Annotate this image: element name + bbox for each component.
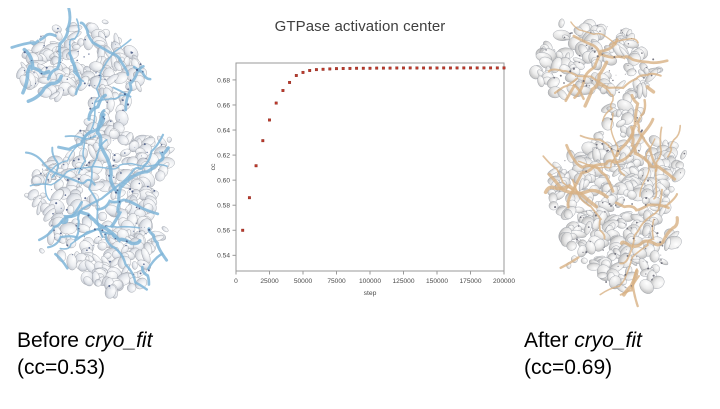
atom-dot [144, 227, 145, 228]
atom-dot [40, 198, 41, 199]
chart-data-point [382, 67, 385, 70]
atom-dot [637, 117, 638, 118]
chart-data-point [255, 164, 258, 167]
atom-dot [113, 140, 114, 141]
cc-vs-step-chart: GTPase activation center 025000500007500… [205, 8, 515, 308]
density-blob [597, 272, 607, 279]
atom-dot [618, 266, 619, 267]
atom-dot [91, 97, 93, 99]
atom-dot [35, 83, 36, 84]
atom-dot [617, 235, 618, 236]
atom-dot [652, 58, 654, 60]
atom-dot [668, 143, 669, 144]
atom-dot [153, 190, 155, 192]
atom-dot [41, 73, 43, 75]
atom-dot [125, 245, 127, 247]
caption-before: Before cryo_fit (cc=0.53) [17, 327, 152, 382]
atom-dot [24, 51, 26, 53]
density-blob [38, 247, 45, 254]
chart-data-point [282, 89, 285, 92]
atom-dot [143, 263, 145, 265]
atom-dot [654, 219, 655, 220]
atom-dot [161, 144, 163, 146]
atom-dot [560, 75, 562, 77]
atom-dot [63, 90, 64, 91]
atom-dot [136, 69, 138, 71]
atom-dot [60, 232, 62, 234]
atom-dot [601, 143, 603, 145]
atom-dot [616, 75, 617, 76]
atom-dot [594, 212, 595, 213]
atom-dot [55, 202, 57, 204]
atom-dot [61, 208, 62, 209]
density-blob [167, 137, 172, 143]
atom-dot [644, 183, 645, 184]
atom-dot [626, 228, 628, 230]
atom-dot [43, 47, 44, 48]
atom-dot [87, 214, 89, 216]
atom-dot [103, 116, 104, 117]
atom-dot [599, 31, 600, 32]
atom-dot [162, 151, 164, 153]
atom-dot [573, 68, 575, 70]
atom-dot [627, 65, 628, 66]
atom-dot [98, 75, 100, 77]
chart-x-tick-label: 25000 [260, 278, 279, 285]
atom-dot [147, 186, 149, 188]
atom-dot [48, 179, 49, 180]
atom-dot [585, 170, 587, 172]
chart-data-point [302, 71, 305, 74]
atom-dot [148, 229, 150, 231]
atom-dot [51, 225, 52, 226]
density-blob [558, 18, 565, 28]
atom-dot [661, 262, 663, 264]
caption-before-cc: (cc=0.53) [17, 354, 152, 381]
atom-dot [142, 71, 143, 72]
atom-dot [112, 153, 113, 154]
chart-data-point [248, 196, 251, 199]
atom-dot [144, 143, 146, 145]
chart-x-tick-label: 0 [234, 278, 238, 285]
atom-dot [615, 204, 617, 206]
atom-dot [131, 190, 133, 192]
atom-dot [88, 53, 89, 54]
atom-dot [647, 267, 649, 269]
atom-dot [633, 237, 635, 239]
atom-dot [643, 77, 645, 79]
atom-dot [98, 236, 99, 237]
atom-dot [651, 279, 653, 281]
chart-y-tick-label: 0.66 [217, 102, 230, 109]
atom-dot [59, 177, 60, 178]
chart-data-point [402, 67, 405, 70]
atom-dot [596, 147, 597, 148]
cryo-em-density-map-before-image [8, 8, 198, 313]
chart-data-point [483, 67, 486, 70]
atom-dot [101, 229, 103, 231]
atom-dot [596, 144, 598, 146]
atom-dot [680, 172, 681, 173]
atom-dot [105, 225, 106, 226]
atom-dot [627, 255, 629, 257]
chart-y-tick-label: 0.60 [217, 178, 230, 185]
chart-x-axis-label: step [364, 290, 377, 297]
atom-dot [642, 175, 643, 176]
atom-dot [40, 36, 41, 37]
density-blob [581, 258, 588, 265]
chart-data-point [442, 67, 445, 70]
atom-dot [602, 202, 604, 204]
atom-dot [617, 220, 618, 221]
atom-dot [110, 288, 111, 289]
chart-data-point [362, 67, 365, 70]
chart-data-point [369, 67, 372, 70]
atom-dot [88, 247, 90, 249]
atom-dot [99, 112, 100, 113]
atom-dot [564, 160, 565, 161]
atom-dot [618, 92, 619, 93]
atom-dot [76, 60, 78, 62]
atom-dot [621, 216, 622, 217]
density-blob [658, 257, 669, 266]
atom-dot [73, 160, 75, 162]
atom-dot [553, 77, 555, 79]
atom-dot [579, 55, 580, 56]
atom-dot [631, 259, 632, 260]
atom-dot [115, 44, 116, 45]
atom-dot [684, 153, 686, 155]
atom-dot [104, 118, 105, 119]
atom-dot [94, 228, 96, 230]
atom-dot [140, 272, 142, 274]
atom-dot [628, 43, 629, 44]
chart-data-point [349, 67, 352, 70]
atom-dot [104, 234, 106, 236]
atom-dot [145, 158, 146, 159]
atom-dot [86, 164, 88, 166]
atom-dot [46, 67, 48, 69]
atom-dot [624, 223, 625, 224]
atom-dot [596, 25, 597, 26]
chart-y-axis-label: cc [210, 163, 217, 170]
atom-dot [122, 99, 124, 101]
atom-dot [120, 172, 122, 174]
atom-dot [124, 152, 126, 154]
atom-dot [620, 38, 621, 39]
chart-data-point [268, 119, 271, 122]
atom-dot [93, 128, 94, 129]
atom-dot [580, 216, 582, 218]
chart-plot-area: 0250005000075000100000125000150000175000… [205, 38, 515, 303]
atom-dot [148, 269, 150, 271]
atom-dot [646, 67, 647, 68]
atom-dot [94, 85, 95, 86]
atom-dot [79, 130, 81, 132]
atom-dot [590, 241, 591, 242]
atom-dot [139, 231, 140, 232]
atom-dot [117, 189, 119, 191]
chart-data-point [342, 67, 345, 70]
caption-before-prefix: Before [17, 329, 85, 352]
atom-dot [113, 159, 115, 161]
atom-dot [595, 214, 597, 216]
atom-dot [564, 37, 565, 38]
atom-dot [51, 189, 52, 190]
atom-dot [588, 226, 590, 228]
chart-data-point [335, 67, 338, 70]
atom-dot [81, 169, 82, 170]
atom-dot [609, 203, 611, 205]
chart-x-tick-label: 75000 [327, 278, 346, 285]
structure-after-cryo-fit [524, 8, 714, 313]
atom-dot [129, 188, 131, 190]
atom-dot [585, 251, 587, 253]
atom-dot [67, 179, 69, 181]
atom-dot [115, 192, 117, 194]
atom-dot [631, 227, 632, 228]
atom-dot [67, 78, 69, 80]
atom-dot [88, 84, 90, 86]
chart-data-point [355, 67, 358, 70]
atom-dot [591, 47, 593, 49]
atom-dot [641, 52, 643, 54]
atom-dot [569, 70, 571, 72]
atom-dot [608, 150, 609, 151]
atom-dot [126, 240, 128, 242]
atom-dot [622, 32, 623, 33]
chart-title: GTPase activation center [205, 18, 515, 35]
chart-data-point [449, 67, 452, 70]
atom-dot [140, 63, 142, 65]
chart-x-tick-label: 100000 [359, 278, 381, 285]
atom-dot [40, 173, 42, 175]
atom-dot [609, 70, 610, 71]
atom-dot [631, 285, 632, 286]
chart-data-point [329, 68, 332, 71]
caption-after-cc: (cc=0.69) [524, 354, 642, 381]
atom-dot [31, 60, 32, 61]
atom-dot [653, 275, 655, 277]
atom-dot [113, 177, 114, 178]
atom-dot [643, 261, 644, 262]
chart-y-tick-label: 0.58 [217, 203, 230, 210]
atom-dot [643, 169, 644, 170]
atom-dot [586, 45, 587, 46]
atom-dot [115, 238, 117, 240]
atom-dot [84, 236, 85, 237]
atom-dot [645, 273, 646, 274]
atom-dot [579, 62, 580, 63]
atom-dot [122, 109, 124, 111]
atom-dot [124, 93, 126, 95]
chart-x-tick-label: 50000 [294, 278, 313, 285]
chart-data-point [489, 67, 492, 70]
atom-dot [110, 121, 112, 123]
atom-dot [84, 82, 86, 84]
atom-dot [660, 255, 661, 256]
atom-dot [586, 85, 588, 87]
atom-dot [563, 82, 565, 84]
chart-data-point [308, 69, 311, 72]
atom-dot [105, 36, 106, 37]
atom-dot [545, 49, 546, 50]
atom-dot [575, 76, 576, 77]
atom-dot [625, 224, 626, 225]
chart-data-point [429, 67, 432, 70]
chart-data-point [496, 67, 499, 70]
atom-dot [115, 80, 116, 81]
atom-dot [617, 150, 619, 152]
atom-dot [610, 118, 612, 120]
chart-data-point [241, 229, 244, 232]
density-blob [161, 225, 169, 233]
atom-dot [576, 239, 578, 241]
chart-data-point [389, 67, 392, 70]
atom-dot [127, 88, 129, 90]
atom-dot [614, 253, 616, 255]
chart-y-tick-label: 0.56 [217, 228, 230, 235]
atom-dot [112, 165, 114, 167]
atom-dot [75, 168, 77, 170]
atom-dot [54, 237, 55, 238]
chart-data-point [288, 81, 291, 84]
chart-data-point [463, 67, 466, 70]
chart-data-point [295, 74, 298, 77]
atom-dot [136, 223, 137, 224]
chart-data-point [396, 67, 399, 70]
atom-dot [653, 171, 654, 172]
atom-dot [619, 185, 620, 186]
atom-dot [83, 56, 84, 57]
atom-dot [119, 201, 121, 203]
atom-dot [57, 28, 59, 30]
atom-dot [577, 240, 578, 241]
atom-dot [88, 162, 90, 164]
atom-dot [641, 129, 643, 131]
atom-dot [66, 209, 68, 211]
atom-dot [659, 241, 661, 243]
atom-dot [605, 281, 607, 283]
atom-dot [145, 233, 146, 234]
atom-dot [636, 222, 638, 224]
atom-dot [625, 74, 626, 75]
atom-dot [604, 247, 605, 248]
density-blob [132, 261, 138, 270]
atom-dot [146, 152, 147, 153]
chart-data-point [469, 67, 472, 70]
chart-data-point [456, 67, 459, 70]
caption-before-tool-name: cryo_fit [85, 329, 153, 352]
atom-dot [133, 274, 134, 275]
chart-data-point [416, 67, 419, 70]
chart-data-point [315, 68, 318, 71]
atom-dot [646, 191, 647, 192]
atom-dot [645, 248, 646, 249]
cryo-em-density-map-after-image [524, 8, 714, 313]
atom-dot [72, 254, 73, 255]
atom-dot [139, 183, 141, 185]
density-blob [679, 149, 688, 160]
atom-dot [106, 102, 107, 103]
density-blob [97, 211, 107, 221]
atom-dot [660, 259, 662, 261]
chart-data-point [436, 67, 439, 70]
atom-dot [636, 256, 637, 257]
atom-dot [620, 29, 621, 30]
chart-y-tick-label: 0.62 [217, 152, 230, 159]
atom-dot [626, 249, 627, 250]
atom-dot [95, 72, 96, 73]
chart-y-tick-label: 0.54 [217, 253, 230, 260]
atom-dot [65, 194, 67, 196]
atom-dot [89, 108, 91, 110]
chart-data-point [322, 68, 325, 71]
atom-dot [66, 244, 68, 246]
atom-dot [80, 168, 81, 169]
atom-dot [662, 245, 664, 247]
chart-data-point [262, 139, 265, 142]
atom-dot [554, 206, 556, 208]
atom-dot [84, 197, 86, 199]
atom-dot [84, 39, 86, 41]
atom-dot [613, 56, 615, 58]
chart-data-point [503, 67, 506, 70]
atom-dot [136, 207, 138, 209]
atom-dot [626, 34, 627, 35]
atom-dot [52, 213, 54, 215]
chart-data-point [422, 67, 425, 70]
atom-dot [83, 135, 84, 136]
atom-dot [129, 192, 130, 193]
atom-dot [597, 55, 599, 57]
atom-dot [571, 32, 573, 34]
atom-dot [578, 225, 579, 226]
atom-dot [106, 225, 107, 226]
atom-dot [57, 32, 58, 33]
atom-dot [93, 245, 94, 246]
chart-y-tick-label: 0.68 [217, 77, 230, 84]
chart-data-point [275, 102, 278, 105]
atom-dot [62, 60, 63, 61]
caption-after-prefix: After [524, 329, 574, 352]
atom-dot [602, 53, 603, 54]
chart-y-tick-label: 0.64 [217, 127, 230, 134]
chart-x-tick-label: 150000 [426, 278, 448, 285]
chart-data-point [476, 67, 479, 70]
atom-dot [595, 173, 596, 174]
model-ribbon [647, 87, 653, 92]
atom-dot [624, 274, 626, 276]
atom-dot [629, 156, 630, 157]
chart-x-tick-label: 125000 [392, 278, 414, 285]
atom-dot [69, 45, 70, 46]
atom-dot [611, 78, 612, 79]
atom-dot [132, 52, 133, 53]
atom-dot [582, 252, 583, 253]
chart-data-point [375, 67, 378, 70]
atom-dot [86, 249, 88, 251]
atom-dot [127, 103, 129, 105]
atom-dot [62, 213, 63, 214]
density-blob [549, 201, 558, 210]
atom-dot [141, 155, 142, 156]
atom-dot [647, 180, 649, 182]
atom-dot [78, 178, 80, 180]
structure-before-cryo-fit [8, 8, 198, 313]
atom-dot [610, 205, 612, 207]
atom-dot [604, 211, 606, 213]
